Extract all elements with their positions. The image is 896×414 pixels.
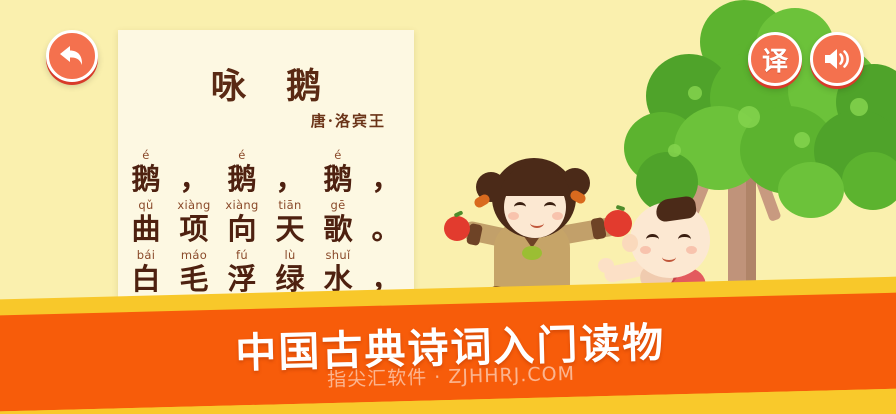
back-button[interactable]	[46, 30, 98, 82]
poem-pinyin-row: bái máo fú lù shuǐ	[118, 248, 414, 262]
tree-highlight-dot	[850, 98, 868, 116]
pinyin-syllable	[362, 248, 410, 262]
poem-char[interactable]: 向	[218, 212, 266, 246]
poem-char[interactable]: 天	[266, 212, 314, 246]
girl-knot	[522, 246, 542, 260]
pinyin-syllable: gē	[314, 198, 362, 212]
speaker-icon	[821, 45, 853, 73]
poem-char: ，	[266, 162, 314, 196]
apple-left	[444, 216, 470, 241]
poem-line: é é é 鹅 ， 鹅 ， 鹅 ，	[118, 148, 414, 196]
poem-title: 咏 鹅	[118, 58, 414, 109]
pinyin-syllable: fú	[218, 248, 266, 262]
translate-button[interactable]: 译	[748, 32, 802, 86]
girl-cheek-right	[552, 212, 563, 220]
poem-pinyin-row: qǔ xiàng xiàng tiān gē	[118, 198, 414, 212]
tree-highlight-dot	[688, 86, 702, 100]
tree-highlight-dot	[668, 144, 681, 157]
poem-char[interactable]: 项	[170, 212, 218, 246]
pinyin-syllable: tiān	[266, 198, 314, 212]
pinyin-syllable: é	[122, 148, 170, 162]
boy-eye-right	[678, 234, 691, 245]
pinyin-syllable: lù	[266, 248, 314, 262]
poem-hanzi-row: 曲 项 向 天 歌 。	[118, 212, 414, 246]
pinyin-syllable: é	[314, 148, 362, 162]
poem-char[interactable]: 浮	[218, 262, 266, 296]
poem-author: 唐·洛宾王	[311, 110, 386, 131]
poem-pinyin-row: é é é	[118, 148, 414, 162]
poem-lines: é é é 鹅 ， 鹅 ， 鹅 ， qǔ	[118, 148, 414, 299]
app-screen: 咏 鹅 唐·洛宾王 é é é 鹅 ， 鹅 ， 鹅 ，	[0, 0, 896, 414]
boy-eye-left	[646, 234, 659, 245]
boy-hand	[598, 258, 614, 273]
pinyin-syllable: xiàng	[218, 198, 266, 212]
pinyin-syllable: é	[218, 148, 266, 162]
poem-char[interactable]: 鹅	[314, 162, 362, 196]
back-arrow-icon	[57, 43, 87, 69]
tree-leaf-blob	[778, 162, 844, 218]
girl-eye-left	[514, 202, 526, 212]
audio-button[interactable]	[810, 32, 864, 86]
poem-hanzi-row: 鹅 ， 鹅 ， 鹅 ，	[118, 162, 414, 196]
poem-char: ，	[362, 162, 410, 196]
boy-ear	[622, 234, 638, 252]
pinyin-syllable: máo	[170, 248, 218, 262]
pinyin-syllable	[362, 148, 410, 162]
poem-char[interactable]: 歌	[314, 212, 362, 246]
poem-char[interactable]: 鹅	[218, 162, 266, 196]
poem-line: qǔ xiàng xiàng tiān gē 曲 项 向 天 歌 。	[118, 198, 414, 246]
poem-char: 。	[362, 212, 410, 246]
pinyin-syllable: shuǐ	[314, 248, 362, 262]
girl-eye-right	[544, 202, 556, 212]
boy-cheek-right	[686, 246, 697, 254]
girl-mouth	[530, 218, 544, 228]
pinyin-syllable	[170, 148, 218, 162]
tree-leaf-blob	[842, 152, 896, 210]
pinyin-syllable: bái	[122, 248, 170, 262]
pinyin-syllable: qǔ	[122, 198, 170, 212]
poem-card: 咏 鹅 唐·洛宾王 é é é 鹅 ， 鹅 ， 鹅 ，	[118, 30, 414, 318]
boy-cheek-left	[640, 246, 651, 254]
girl-cheek-left	[508, 212, 519, 220]
pinyin-syllable	[266, 148, 314, 162]
boy-mouth	[662, 252, 676, 262]
poem-char[interactable]: 白	[122, 262, 170, 296]
translate-label: 译	[762, 41, 788, 78]
poem-char[interactable]: 毛	[170, 262, 218, 296]
bottom-banner: 中国古典诗词入门读物 指尖汇软件 · ZJHHRJ.COM	[0, 276, 896, 414]
tree-highlight-dot	[794, 132, 810, 148]
poem-char: ，	[170, 162, 218, 196]
pinyin-syllable	[362, 198, 410, 212]
tree-highlight-dot	[738, 106, 760, 128]
poem-char[interactable]: 曲	[122, 212, 170, 246]
poem-char[interactable]: 鹅	[122, 162, 170, 196]
pinyin-syllable: xiàng	[170, 198, 218, 212]
